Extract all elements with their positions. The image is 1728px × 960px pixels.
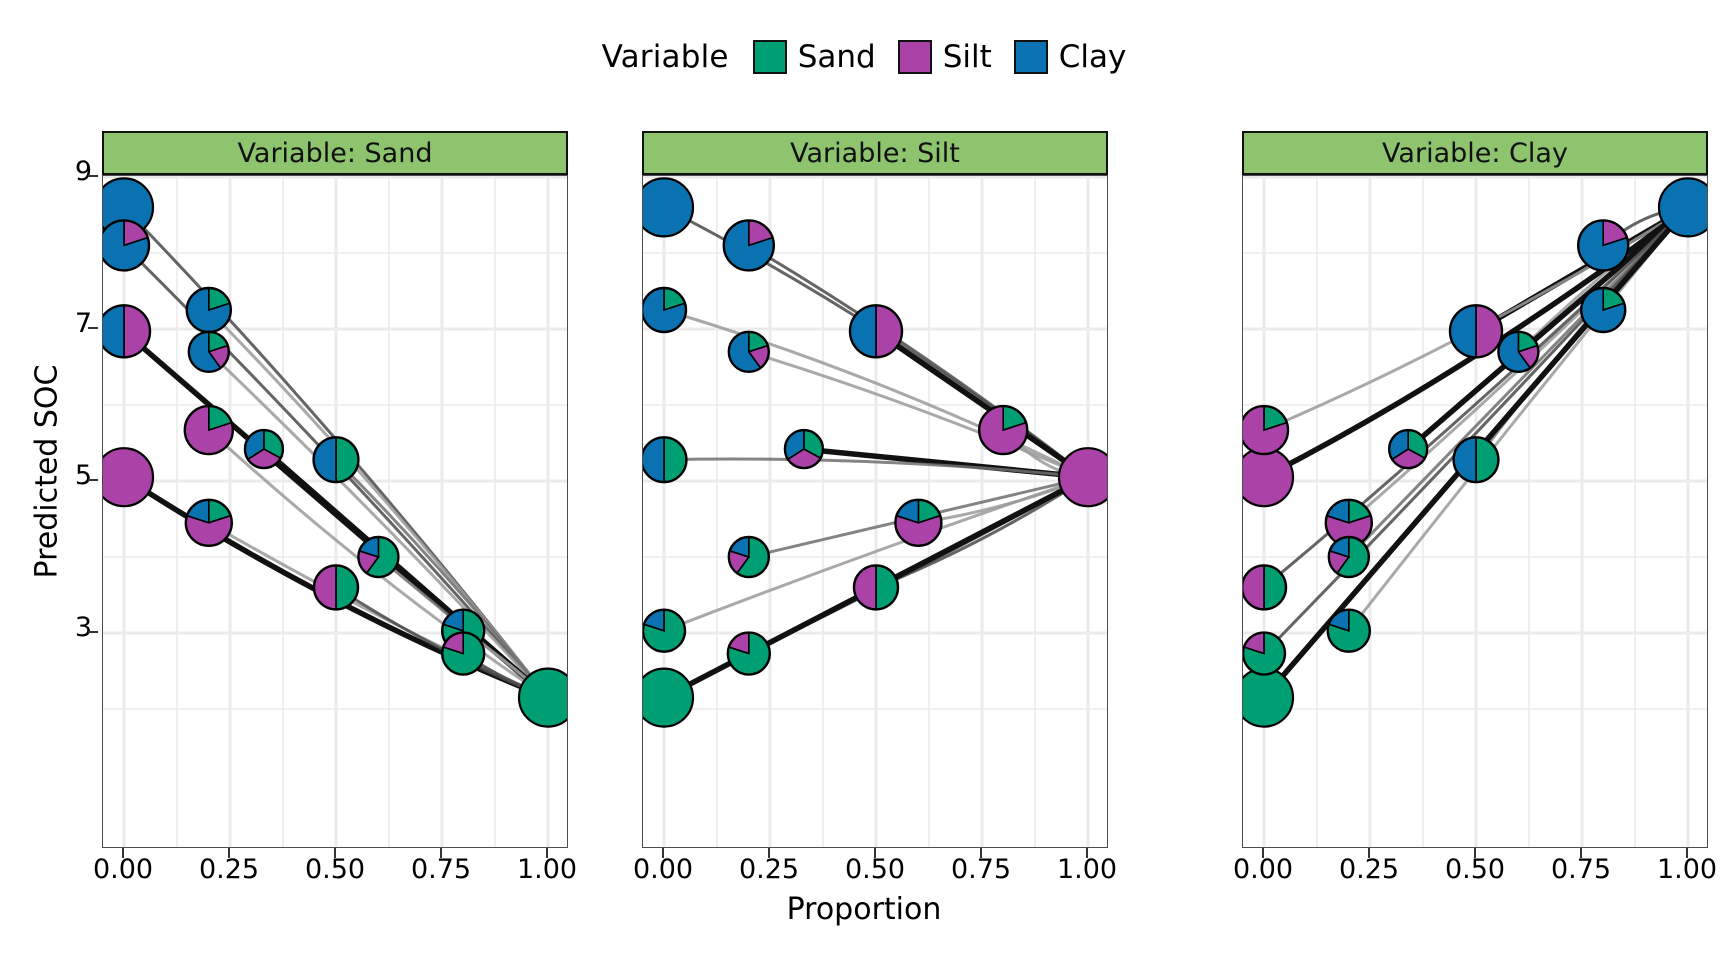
x-tick-mark — [768, 848, 770, 858]
facet-panel-silt: Variable: Silt — [642, 131, 1108, 848]
legend-item-sand[interactable]: Sand — [753, 39, 876, 75]
plot-area-silt — [642, 175, 1108, 848]
data-point-pie[interactable] — [1389, 430, 1427, 468]
facet-strip-label: Variable: Sand — [238, 138, 433, 169]
x-tick-label: 0.00 — [608, 856, 718, 883]
data-point-pie[interactable] — [1329, 537, 1369, 577]
legend-label-sand: Sand — [798, 39, 876, 75]
plot-area-sand — [102, 175, 568, 848]
data-point-pie[interactable] — [1659, 178, 1708, 236]
x-tick-label: 1.00 — [492, 856, 602, 883]
x-tick-label: 0.50 — [1420, 856, 1530, 883]
data-point-pie[interactable] — [850, 305, 902, 357]
data-point-pie[interactable] — [854, 565, 898, 609]
facet-strip-sand: Variable: Sand — [102, 131, 568, 175]
data-point-pie[interactable] — [728, 633, 770, 675]
data-point-pie[interactable] — [1581, 288, 1625, 332]
x-tick-mark — [228, 848, 230, 858]
y-tick-label-5: 5 — [8, 462, 92, 489]
data-point-pie[interactable] — [1450, 305, 1502, 357]
x-tick-label: 0.50 — [820, 856, 930, 883]
data-point-pie[interactable] — [895, 500, 941, 546]
facet-panel-clay: Variable: Clay — [1242, 131, 1708, 848]
facet-strip-clay: Variable: Clay — [1242, 131, 1708, 175]
y-tick-mark — [88, 175, 98, 177]
legend-swatch-silt — [898, 40, 932, 74]
x-tick-mark — [334, 848, 336, 858]
x-tick-label: 0.75 — [926, 856, 1036, 883]
facet-strip-silt: Variable: Silt — [642, 131, 1108, 175]
data-point-pie[interactable] — [643, 288, 686, 332]
x-tick-label: 0.25 — [714, 856, 824, 883]
data-point-pie[interactable] — [519, 669, 568, 727]
x-tick-mark — [1474, 848, 1476, 858]
x-tick-mark — [980, 848, 982, 858]
y-tick-label-3: 3 — [8, 614, 92, 641]
x-tick-mark — [546, 848, 548, 858]
y-tick-label-7: 7 — [8, 310, 92, 337]
data-point-pie[interactable] — [1059, 448, 1108, 506]
x-tick-label: 0.75 — [1526, 856, 1636, 883]
data-point-pie[interactable] — [643, 610, 685, 652]
x-tick-mark — [440, 848, 442, 858]
x-tick-label: 0.00 — [1208, 856, 1318, 883]
x-tick-label: 1.00 — [1032, 856, 1142, 883]
plot-area-clay — [1242, 175, 1708, 848]
y-tick-mark — [88, 327, 98, 329]
facet-panel-sand: Variable: Sand — [102, 131, 568, 848]
data-point-pie[interactable] — [1243, 448, 1293, 506]
legend-item-silt[interactable]: Silt — [898, 39, 992, 75]
data-point-pie[interactable] — [314, 437, 359, 482]
x-tick-label: 0.25 — [1314, 856, 1424, 883]
x-tick-mark — [122, 848, 124, 858]
x-tick-label: 0.25 — [174, 856, 284, 883]
x-tick-label: 0.50 — [280, 856, 390, 883]
x-tick-label: 0.00 — [68, 856, 178, 883]
x-tick-mark — [662, 848, 664, 858]
data-point-pie[interactable] — [185, 406, 233, 454]
x-tick-mark — [1686, 848, 1688, 858]
data-point-pie[interactable] — [729, 537, 769, 577]
facet-strip-label: Variable: Clay — [1382, 138, 1568, 169]
data-point-pie[interactable] — [1454, 437, 1499, 482]
x-tick-mark — [1368, 848, 1370, 858]
data-point-pie[interactable] — [103, 220, 149, 270]
legend-title: Variable — [602, 39, 729, 75]
data-point-pie[interactable] — [189, 332, 229, 372]
data-point-pie[interactable] — [979, 406, 1027, 454]
data-point-pie[interactable] — [1328, 610, 1370, 652]
legend-item-clay[interactable]: Clay — [1014, 39, 1127, 75]
x-axis-title: Proportion — [0, 892, 1728, 927]
data-point-pie[interactable] — [1498, 332, 1538, 372]
x-tick-label: 0.75 — [386, 856, 496, 883]
y-axis-ticks: 9753 — [0, 0, 92, 960]
x-tick-label: 1.00 — [1632, 856, 1728, 883]
data-point-pie[interactable] — [186, 500, 232, 546]
legend-swatch-clay — [1014, 40, 1048, 74]
data-point-pie[interactable] — [785, 430, 823, 468]
data-point-pie[interactable] — [103, 305, 150, 357]
facet-strip-label: Variable: Silt — [790, 138, 960, 169]
data-point-pie[interactable] — [187, 288, 231, 332]
y-tick-label-9: 9 — [8, 158, 92, 185]
x-tick-mark — [1086, 848, 1088, 858]
legend-label-silt: Silt — [943, 39, 992, 75]
data-point-pie[interactable] — [358, 537, 398, 577]
x-tick-mark — [1262, 848, 1264, 858]
data-point-pie[interactable] — [643, 178, 693, 236]
data-point-pie[interactable] — [729, 332, 769, 372]
y-tick-mark — [88, 479, 98, 481]
data-point-pie[interactable] — [245, 430, 283, 468]
legend-swatch-sand — [753, 40, 787, 74]
x-tick-mark — [874, 848, 876, 858]
data-point-pie[interactable] — [1243, 669, 1293, 727]
data-point-pie[interactable] — [442, 633, 484, 675]
data-point-pie[interactable] — [643, 437, 686, 482]
data-point-pie[interactable] — [1243, 406, 1288, 454]
data-point-pie[interactable] — [1243, 633, 1285, 675]
legend-label-clay: Clay — [1059, 39, 1127, 75]
data-point-pie[interactable] — [643, 669, 693, 727]
data-point-pie[interactable] — [724, 220, 774, 270]
data-point-pie[interactable] — [1243, 565, 1286, 609]
data-point-pie[interactable] — [314, 565, 358, 609]
x-tick-mark — [1580, 848, 1582, 858]
legend: Variable Sand Silt Clay — [0, 26, 1728, 88]
data-point-pie[interactable] — [103, 448, 153, 506]
y-tick-mark — [88, 631, 98, 633]
data-point-pie[interactable] — [1578, 220, 1628, 270]
